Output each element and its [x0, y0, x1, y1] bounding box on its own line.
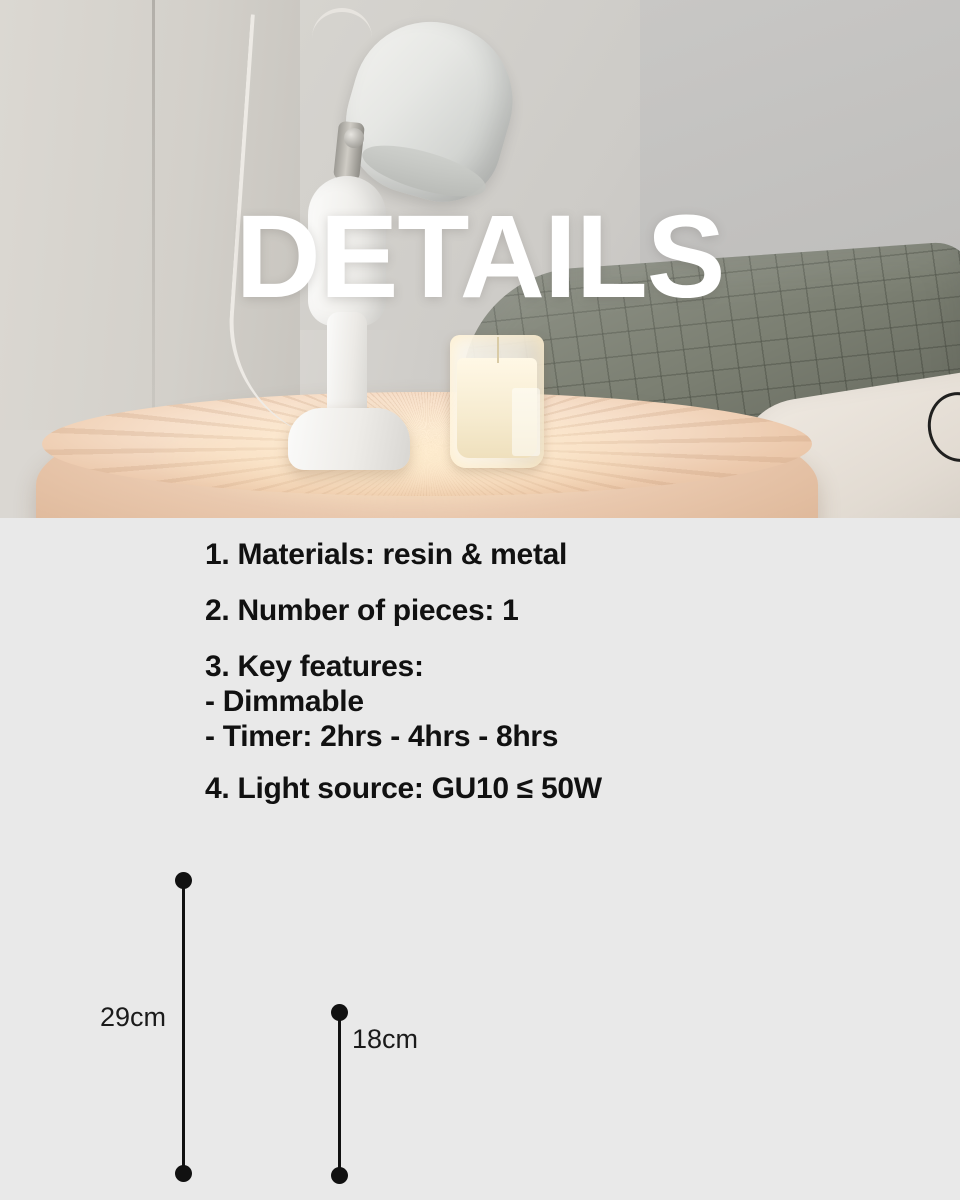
- hero-candle-label: [512, 388, 540, 456]
- lamp-base: [288, 408, 410, 470]
- spec-key-features: 3. Key features:: [205, 652, 925, 683]
- dimension-29cm-dot-bottom: [175, 1165, 192, 1182]
- hero-photo: DETAILS: [0, 0, 960, 518]
- spec-feature-dimmable: - Dimmable: [205, 687, 925, 718]
- dimension-29cm-line: [182, 880, 185, 1173]
- spec-pieces: 2. Number of pieces: 1: [205, 596, 925, 627]
- dimension-18cm-dot-top: [331, 1004, 348, 1021]
- hero-candle-wick: [497, 337, 499, 363]
- spec-light-source: 4. Light source: GU10 ≤ 50W: [205, 774, 925, 805]
- dimension-18cm-line: [338, 1012, 341, 1175]
- dimension-18cm-label: 18cm: [352, 1024, 418, 1055]
- dimension-29cm-label: 29cm: [100, 1002, 166, 1033]
- page-title: DETAILS: [0, 198, 960, 316]
- lamp-knob: [344, 128, 364, 148]
- spec-materials: 1. Materials: resin & metal: [205, 540, 925, 571]
- spec-list: 1. Materials: resin & metal 2. Number of…: [205, 540, 925, 830]
- dimension-29cm-dot-top: [175, 872, 192, 889]
- spec-feature-timer: - Timer: 2hrs - 4hrs - 8hrs: [205, 722, 925, 753]
- size-diagram: TU BER EUSE RO SES 29cm 18cm: [0, 860, 960, 1200]
- product-detail-page: DETAILS 1. Materials: resin & metal 2. N…: [0, 0, 960, 1200]
- dimension-18cm-dot-bottom: [331, 1167, 348, 1184]
- lamp-glow: [150, 400, 670, 510]
- lamp-stem: [327, 312, 367, 422]
